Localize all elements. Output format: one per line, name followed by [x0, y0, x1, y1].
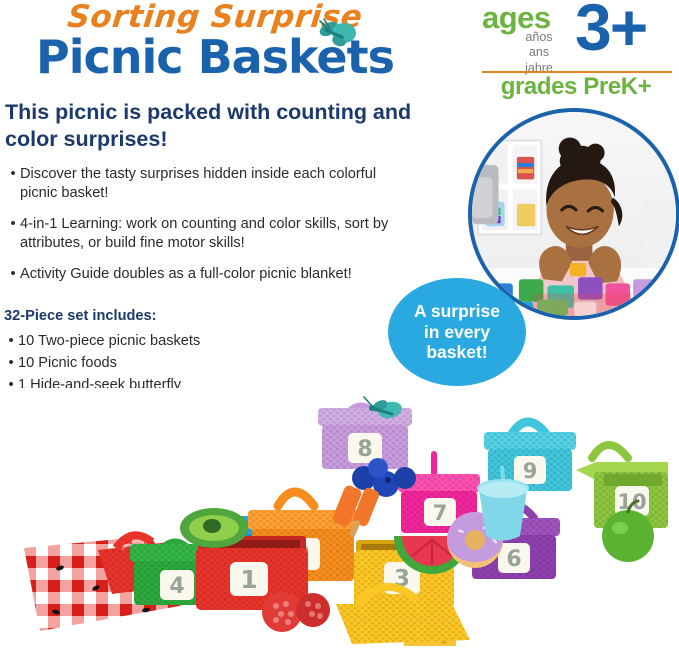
butterfly-icon [315, 17, 357, 51]
list-item: • 10 Picnic foods [4, 352, 294, 374]
list-item-label: Discover the tasty surprises hidden insi… [20, 165, 416, 204]
list-item: • Activity Guide doubles as a full-color… [6, 265, 416, 284]
list-item-label: 10 Picnic foods [18, 352, 117, 374]
feature-bullet-list: • Discover the tasty surprises hidden in… [6, 165, 416, 295]
bullet-marker: • [6, 215, 20, 254]
basket-number-label: 6 [506, 547, 521, 572]
basket-number-label: 1 [240, 565, 257, 594]
lifestyle-photo-illustration [472, 112, 676, 316]
bullet-marker: • [6, 265, 20, 284]
ages-translation-fr: ans [498, 45, 580, 60]
list-item: • Discover the tasty surprises hidden in… [6, 165, 416, 204]
badge-line-3: basket! [414, 342, 500, 363]
product-subtitle: Sorting Surprise [0, 2, 432, 33]
status-badge-text: A surprise in every basket! [414, 301, 500, 363]
badge-line-2: in every [414, 322, 500, 343]
grades-label: grades PreK+ [478, 74, 674, 100]
bullet-marker: • [4, 352, 18, 374]
basket-number-label: 9 [523, 459, 538, 483]
ages-label: ages [482, 2, 551, 33]
list-item: • 4-in-1 Learning: work on counting and … [6, 215, 416, 254]
bullet-marker: • [6, 165, 20, 204]
product-title-block: Sorting Surprise Picnic Baskets [0, 2, 430, 81]
list-item-label: 10 Two-piece picnic baskets [18, 330, 200, 352]
age-value: 3+ [575, 0, 646, 60]
basket-number-label: 4 [169, 574, 184, 599]
product-photo: 4 5 8 [0, 388, 679, 655]
set-contents-heading: 32-Piece set includes: [4, 308, 294, 324]
list-item: • 10 Two-piece picnic baskets [4, 330, 294, 352]
food-avocado-half [180, 508, 248, 548]
bullet-marker: • [4, 330, 18, 352]
headline: This picnic is packed with counting and … [5, 99, 415, 153]
list-item-label: 4-in-1 Learning: work on counting and co… [20, 215, 416, 254]
basket-number-label: 8 [357, 437, 372, 462]
ages-translations: años ans jahre [498, 30, 580, 76]
list-item-label: Activity Guide doubles as a full-color p… [20, 265, 416, 284]
age-grade-block: ages años ans jahre 3+ grades PreK+ [470, 0, 679, 100]
status-badge: A surprise in every basket! [388, 278, 526, 386]
page-title: Picnic Baskets [0, 34, 430, 81]
product-photo-illustration: 4 5 8 [0, 388, 679, 655]
basket-number-label: 7 [433, 501, 448, 525]
ages-translation-es: años [498, 30, 580, 45]
lifestyle-photo [468, 108, 679, 320]
badge-line-1: A surprise [414, 301, 500, 322]
product-marketing-image: Sorting Surprise Picnic Baskets This pic… [0, 0, 679, 655]
